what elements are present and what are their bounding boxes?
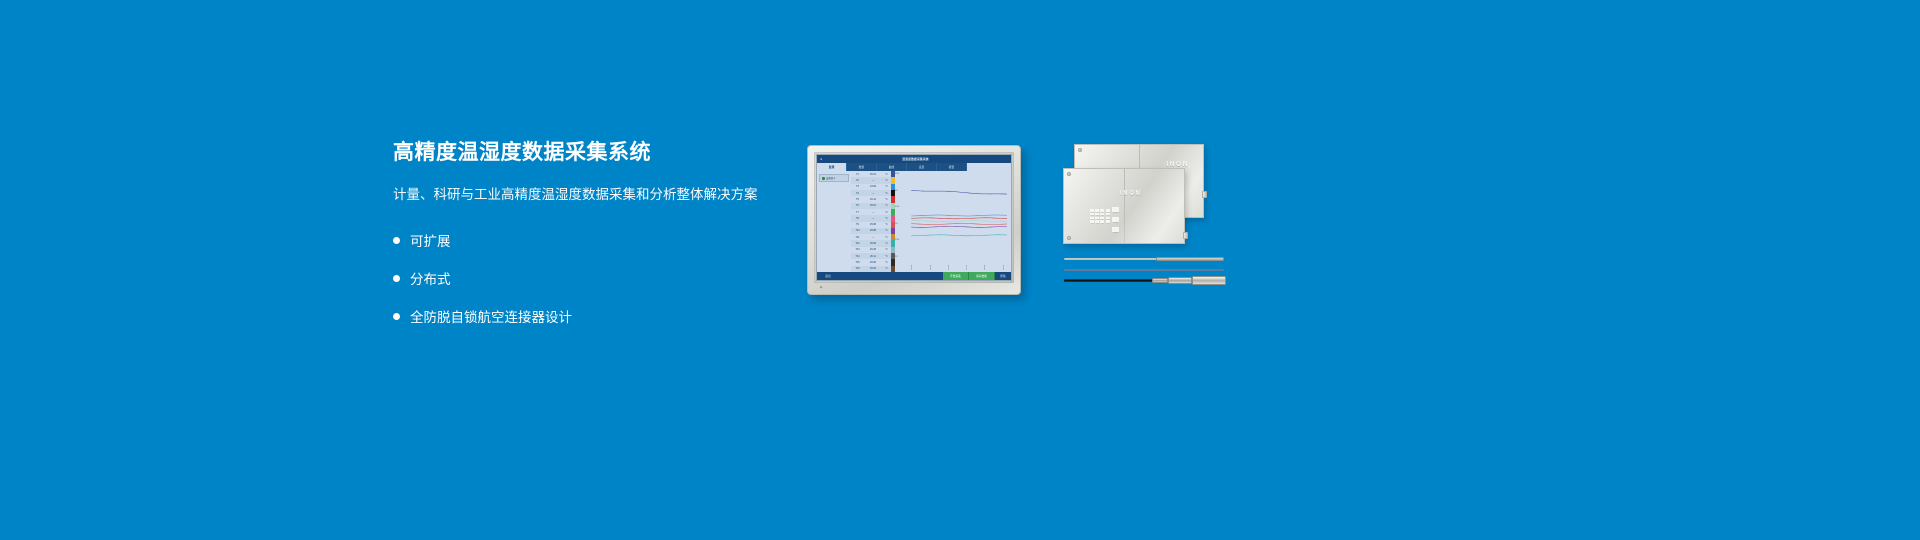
module-product-images: INON INON [1060, 140, 1230, 300]
y-axis-tick: 23.5 [895, 239, 899, 241]
channel-id: T13 [852, 248, 863, 251]
channel-id: T8 [852, 217, 863, 220]
tab-alarm[interactable]: 报警 [937, 163, 967, 171]
screen-title: 温湿度数据采集系统 [823, 157, 1008, 161]
page-subtitle: 计量、科研与工业高精度温湿度数据采集和分析整体解决方案 [393, 186, 793, 205]
start-acquisition-button[interactable]: 开始采集 [943, 272, 969, 280]
channel-value: 26.12 [863, 198, 883, 201]
trend-chart: 25.52524.52423.523 10:0010:3011:0011:301… [895, 171, 1011, 272]
channel-unit: ℃ [883, 242, 890, 245]
tab-curve[interactable]: 曲线 [877, 163, 907, 171]
x-axis-tick: 10:00 [911, 265, 913, 270]
x-axis-tick: 11:00 [948, 265, 950, 270]
channel-value: 24.99 [863, 185, 883, 188]
channel-unit: ℃ [883, 261, 890, 264]
channel-id: T12 [852, 242, 863, 245]
channel-value: 26.90 [863, 261, 883, 264]
feature-list: 可扩展 分布式 全防脱自锁航空连接器设计 [393, 227, 793, 329]
channel-unit: ℃ [883, 192, 890, 195]
trend-line [911, 190, 1007, 194]
bullet-dot-icon [393, 313, 400, 320]
cable-line [1064, 269, 1224, 271]
feature-label: 可扩展 [410, 230, 451, 250]
chart-x-axis: 10:0010:3011:0011:3012:0012:30 [905, 257, 1009, 270]
connector-port [1183, 232, 1188, 239]
trend-lines-svg [905, 173, 1009, 258]
tablet-chin: ✦ [815, 285, 1013, 293]
channel-value: --- [863, 211, 883, 214]
y-axis-tick: 25.5 [895, 173, 899, 175]
channel-unit: ℃ [883, 229, 890, 232]
feature-label: 全防脱自锁航空连接器设计 [410, 306, 572, 326]
channel-unit: ℃ [883, 211, 890, 214]
connector-collar [1152, 278, 1168, 283]
channel-id: T15 [852, 261, 863, 264]
trend-line [911, 235, 1007, 236]
channel-value: 25.61 [863, 204, 883, 207]
channel-id: T7 [852, 211, 863, 214]
acquisition-software-screen: ◂ 温湿度数据采集系统 监测 数据 曲线 设置 报警 设备组-1 T125.3 [816, 154, 1012, 281]
channel-unit: ℃ [883, 223, 890, 226]
screen-tabbar: 监测 数据 曲线 设置 报警 [817, 163, 1011, 171]
y-axis-tick: 23 [895, 256, 897, 258]
list-item: 分布式 [393, 265, 793, 291]
channel-unit: ℃ [883, 185, 890, 188]
channel-value: 25.98 [863, 223, 883, 226]
screen-titlebar: ◂ 温湿度数据采集系统 [817, 155, 1011, 163]
channel-id: T2 [852, 179, 863, 182]
tablet-screen-frame: ◂ 温湿度数据采集系统 监测 数据 曲线 设置 报警 设备组-1 T125.3 [814, 152, 1014, 283]
channel-id: T1 [852, 173, 863, 176]
vendor-mark-icon: ✦ [819, 286, 824, 291]
probe-metal-body [1156, 257, 1224, 261]
trend-line [911, 226, 1007, 227]
channel-id: T5 [852, 198, 863, 201]
channel-unit: ℃ [883, 198, 890, 201]
module-seam [1124, 169, 1125, 243]
x-axis-tick: 11:30 [966, 265, 968, 270]
channel-id: T14 [852, 255, 863, 258]
tabbar-filler [967, 163, 1011, 171]
trend-line [911, 224, 1007, 225]
x-axis-tick: 12:30 [1003, 265, 1005, 270]
trend-line [911, 221, 1007, 222]
probe-sheath [1064, 258, 1160, 260]
channel-unit: ℃ [883, 204, 890, 207]
channel-id: T11 [852, 236, 863, 239]
channel-value: --- [863, 179, 883, 182]
save-data-button[interactable]: 保存数据 [969, 272, 995, 280]
tablet-product-image: ◂ 温湿度数据采集系统 监测 数据 曲线 设置 报警 设备组-1 T125.3 [807, 145, 1021, 295]
channel-unit: ℃ [883, 217, 890, 220]
channel-id: T9 [852, 223, 863, 226]
trend-line [911, 218, 1007, 219]
y-axis-tick: 24 [895, 223, 897, 225]
channel-table: T125.31℃T2---℃T324.99℃T4---℃T526.12℃T625… [851, 171, 891, 272]
screen-bottom-bar: 退出 开始采集 保存数据 帮助 [817, 272, 1011, 280]
channel-value: 25.94 [863, 267, 883, 270]
channel-unit: ℃ [883, 267, 890, 270]
device-sidebar: 设备组-1 [817, 171, 851, 272]
aviation-connector-cable [1064, 276, 1224, 285]
screw-icon [1067, 236, 1071, 240]
bullet-dot-icon [393, 237, 400, 244]
device-label: 设备组-1 [826, 176, 835, 180]
channel-value: 26.88 [863, 229, 883, 232]
channel-id: T16 [852, 267, 863, 270]
connector-shell [1192, 276, 1226, 285]
tab-data[interactable]: 数据 [847, 163, 877, 171]
exit-button[interactable]: 退出 [817, 272, 839, 280]
terminal-block-etch [1090, 209, 1110, 223]
tab-monitor[interactable]: 监测 [817, 163, 847, 171]
y-axis-tick: 24.5 [895, 206, 899, 208]
acquisition-module-front: INON [1063, 168, 1185, 244]
feature-label: 分布式 [410, 268, 451, 288]
brand-logo: INON [1120, 191, 1141, 197]
bottom-bar-filler [839, 272, 943, 280]
black-cable [1064, 279, 1156, 282]
channel-value: 25.31 [863, 173, 883, 176]
sensor-cable [1064, 268, 1224, 272]
channel-id: T4 [852, 192, 863, 195]
channel-unit: ℃ [883, 255, 890, 258]
channel-value: --- [863, 192, 883, 195]
connector-body [1168, 277, 1192, 284]
list-item: 可扩展 [393, 227, 793, 253]
channel-value: --- [863, 236, 883, 239]
tab-settings[interactable]: 设置 [907, 163, 937, 171]
y-axis-tick: 25 [895, 190, 897, 192]
screw-icon [1078, 148, 1082, 152]
trend-line [911, 215, 1007, 216]
channel-unit: ℃ [883, 236, 890, 239]
screw-icon [1067, 172, 1071, 176]
banner-copy: 高精度温湿度数据采集系统 计量、科研与工业高精度温湿度数据采集和分析整体解决方案… [393, 140, 793, 341]
channel-id: T6 [852, 204, 863, 207]
channel-id: T10 [852, 229, 863, 232]
connector-port [1202, 191, 1207, 198]
bullet-dot-icon [393, 275, 400, 282]
status-led-icon [822, 177, 825, 180]
channel-value: --- [863, 217, 883, 220]
chart-y-axis: 25.52524.52423.523 [895, 171, 905, 272]
screen-main: 设备组-1 T125.31℃T2---℃T324.99℃T4---℃T526.1… [817, 171, 1011, 272]
brand-logo: INON [1166, 161, 1189, 168]
x-axis-tick: 10:30 [930, 265, 932, 270]
channel-unit: ℃ [883, 173, 890, 176]
sidebar-item-device-group[interactable]: 设备组-1 [819, 174, 849, 182]
page-title: 高精度温湿度数据采集系统 [393, 140, 793, 165]
chart-plot-area [905, 173, 1009, 258]
x-axis-tick: 12:00 [984, 265, 986, 270]
channel-value: 26.28 [863, 248, 883, 251]
channel-id: T3 [852, 185, 863, 188]
help-button[interactable]: 帮助 [995, 272, 1011, 280]
channel-value: 25.90 [863, 242, 883, 245]
rtd-probe [1064, 256, 1224, 262]
channel-unit: ℃ [883, 179, 890, 182]
list-item: 全防脱自锁航空连接器设计 [393, 303, 793, 329]
channel-unit: ℃ [883, 248, 890, 251]
port-label-etch [1112, 207, 1119, 232]
channel-value: 26.11 [863, 255, 883, 258]
